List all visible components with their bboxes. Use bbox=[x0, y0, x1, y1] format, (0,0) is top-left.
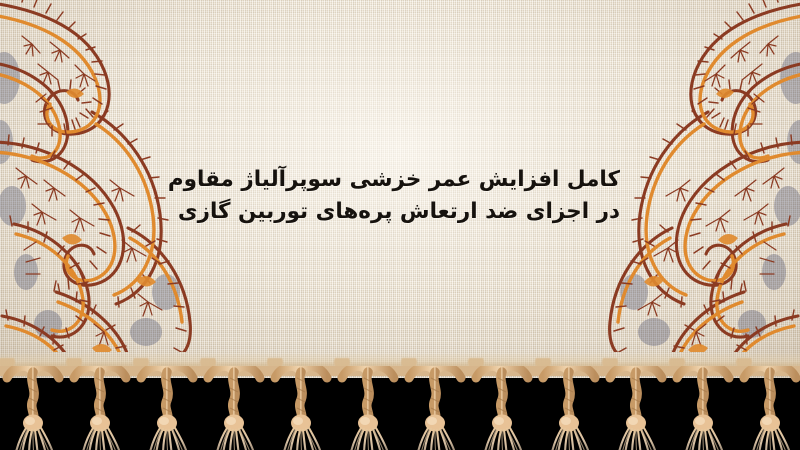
slide-title: کامل افزایش عمر خزشی سوپرآلیاژ مقاوم در … bbox=[180, 164, 620, 228]
slide-canvas: کامل افزایش عمر خزشی سوپرآلیاژ مقاوم در … bbox=[0, 0, 800, 450]
tassel-fringe-icon bbox=[0, 366, 800, 450]
title-line-1: کامل افزایش عمر خزشی سوپرآلیاژ مقاوم bbox=[180, 164, 620, 196]
title-line-2: در اجزای ضد ارتعاش پره‌های توربین گازی bbox=[180, 196, 620, 228]
